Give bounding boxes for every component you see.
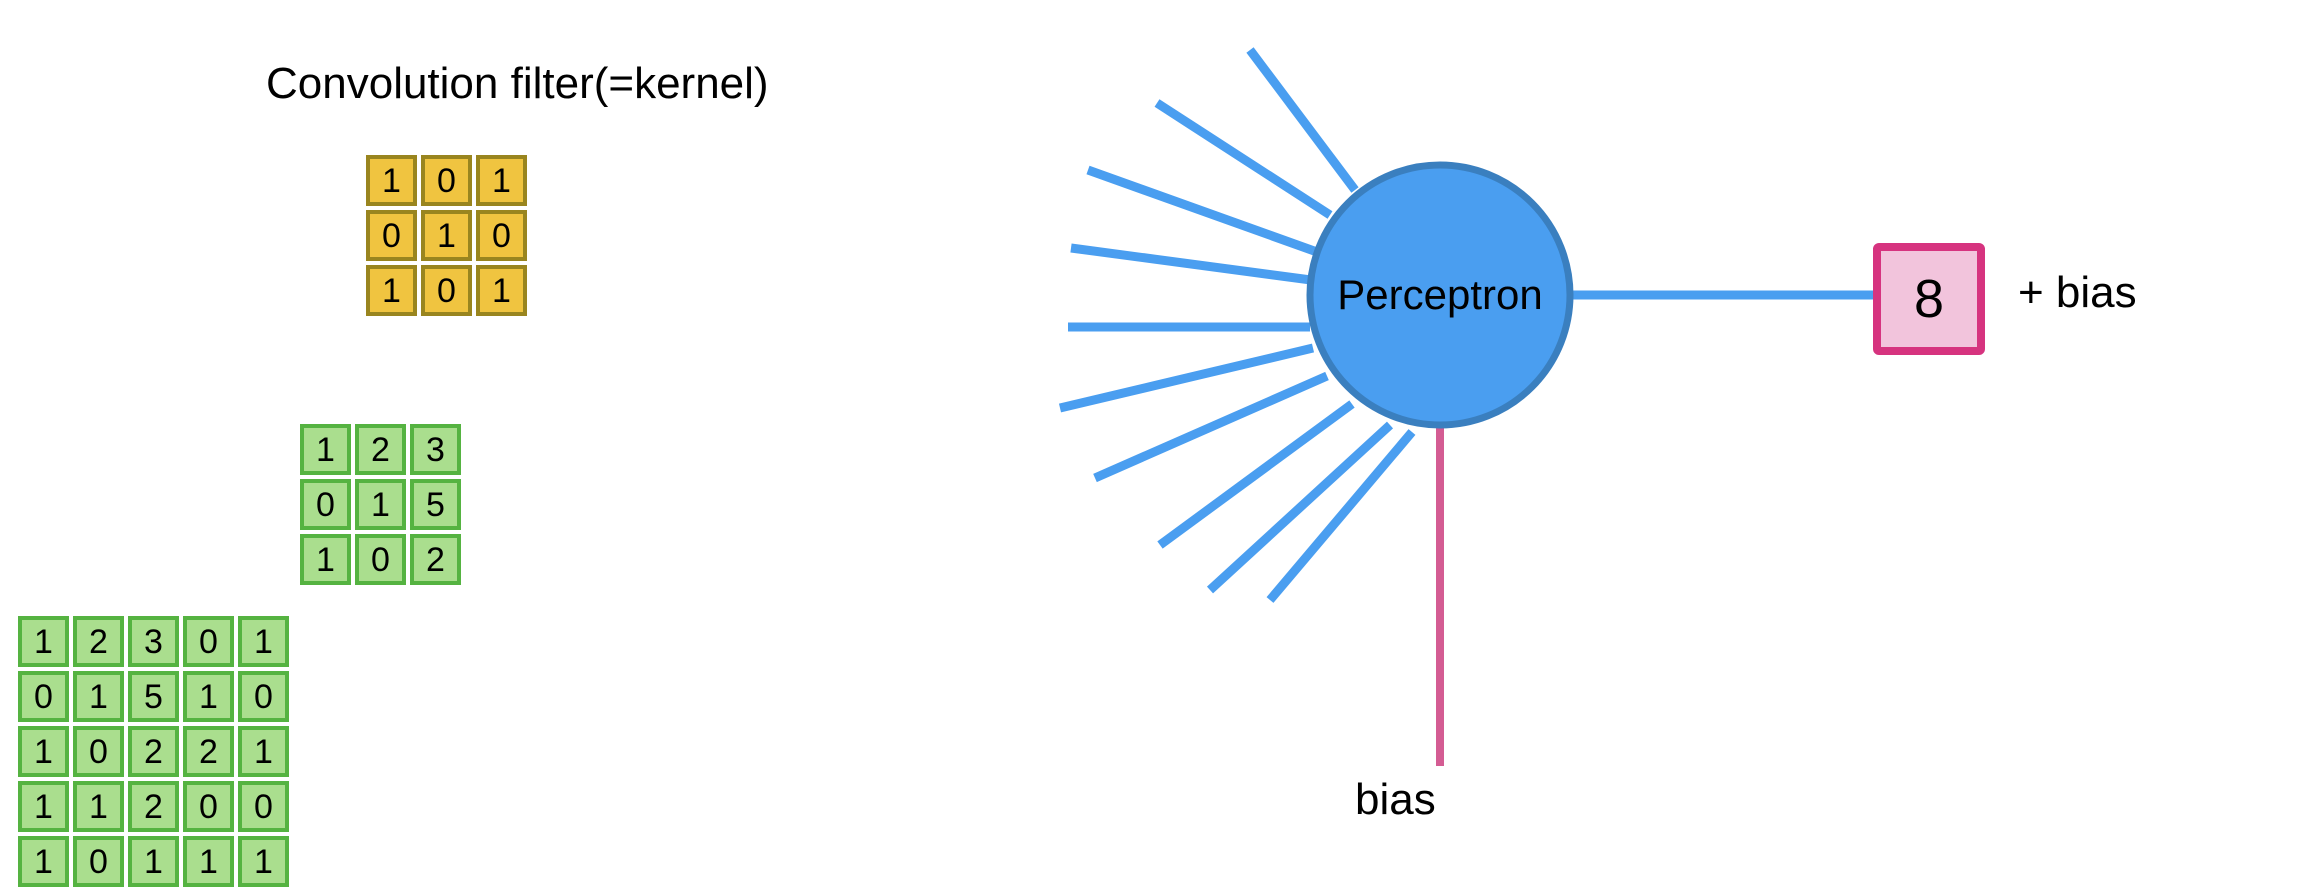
bias-label: bias <box>1355 778 1436 822</box>
perceptron-diagram <box>0 0 2302 862</box>
plus-bias-label: + bias <box>2018 271 2137 315</box>
input-weight-line-8 <box>1160 404 1352 545</box>
perceptron-node[interactable] <box>1310 165 1570 425</box>
output-value-box: 8 <box>1873 243 1985 355</box>
input-weight-line-4 <box>1071 248 1311 280</box>
